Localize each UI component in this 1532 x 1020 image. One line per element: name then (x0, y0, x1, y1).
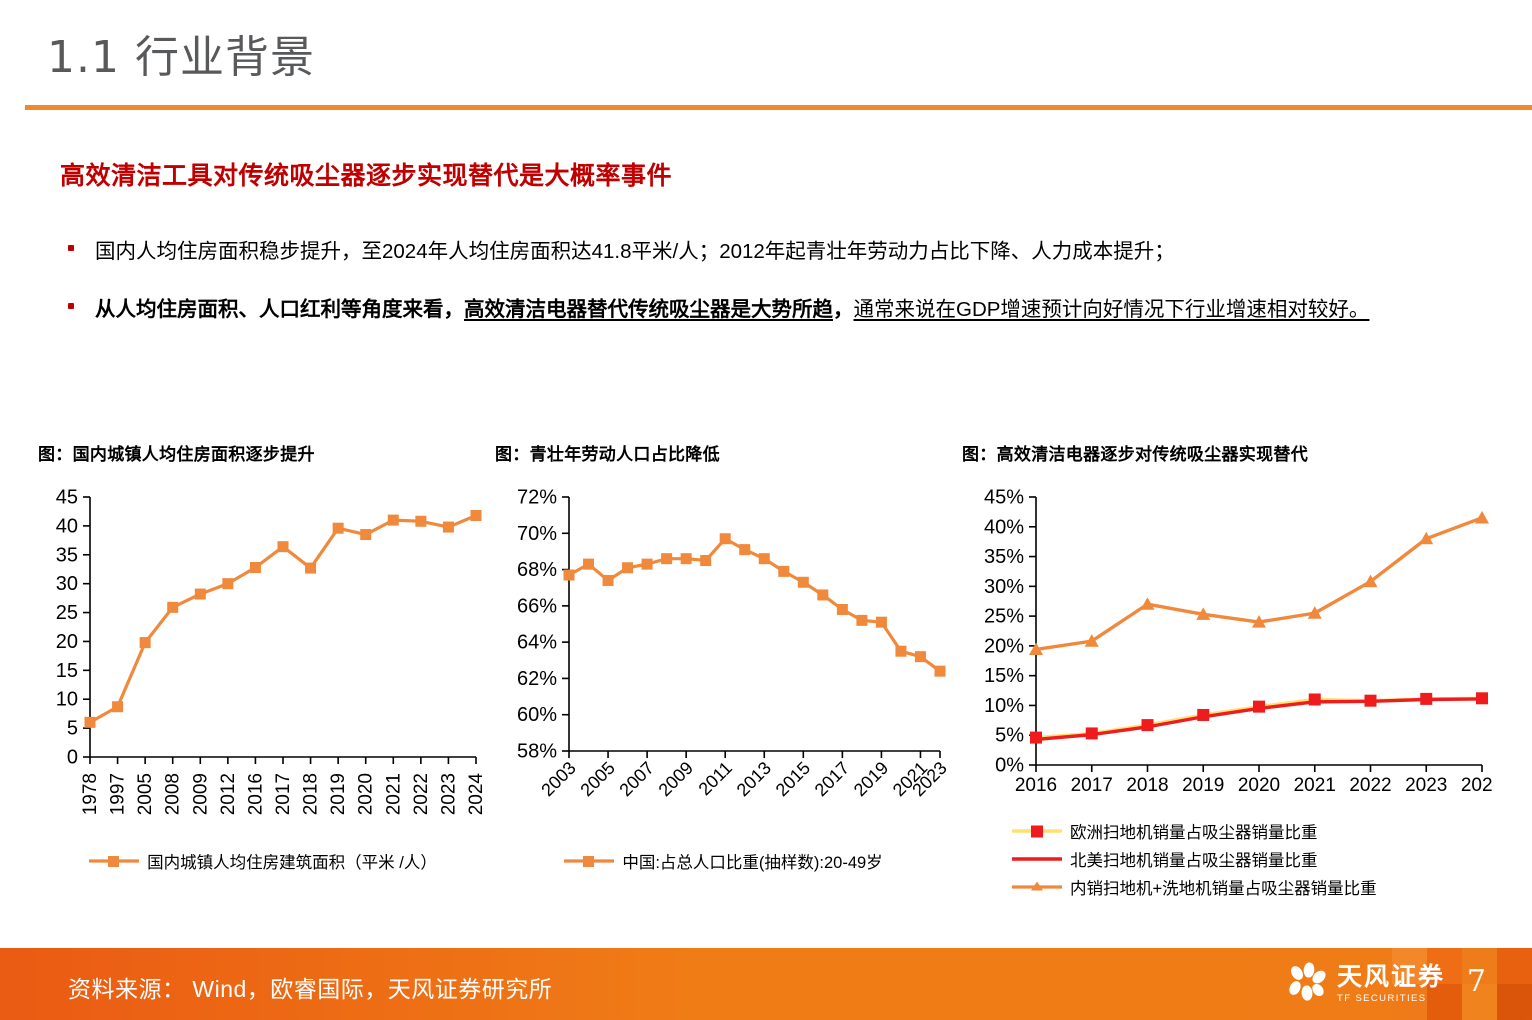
legend-swatch-square-icon (562, 853, 616, 869)
legend-item: 中国:占总人口比重(抽样数):20-49岁 (495, 849, 950, 873)
svg-text:2017: 2017 (1071, 775, 1113, 796)
svg-text:60%: 60% (517, 704, 557, 726)
footer-bar: 资料来源： Wind，欧睿国际，天风证券研究所 天风证券 TF SECURITI… (0, 948, 1532, 1020)
svg-text:2022: 2022 (411, 773, 432, 815)
svg-text:68%: 68% (517, 559, 557, 581)
title-divider (25, 105, 1532, 110)
legend-label: 欧洲扫地机销量占吸尘器销量比重 (1070, 819, 1318, 843)
svg-text:2003: 2003 (537, 758, 579, 800)
legend-label: 国内城镇人均住房建筑面积（平米 /人） (147, 849, 437, 873)
brand-logo: 天风证券 TF SECURITIES (1285, 962, 1445, 1006)
svg-text:35: 35 (56, 544, 78, 566)
bullet-item-1: 国内人均住房面积稳步提升，至2024年人均住房面积达41.8平米/人；2012年… (60, 236, 1490, 268)
bullet-dot-icon (68, 245, 74, 251)
legend-swatch-line-icon (1010, 851, 1064, 867)
svg-text:2005: 2005 (135, 773, 156, 815)
chart-panel-labor-share: 图：青壮年劳动人口占比降低 58%60%62%64%66%68%70%72%20… (495, 440, 950, 873)
svg-text:72%: 72% (517, 487, 557, 509)
svg-text:2024: 2024 (466, 773, 486, 816)
svg-text:30: 30 (56, 573, 78, 595)
bullet2-part2: 高效清洁电器替代传统吸尘器是大势所趋 (464, 298, 833, 321)
svg-text:2007: 2007 (615, 758, 657, 800)
bullet-text-1: 国内人均住房面积稳步提升，至2024年人均住房面积达41.8平米/人；2012年… (95, 240, 1175, 263)
svg-text:2018: 2018 (1126, 775, 1168, 796)
legend-swatch-triangle-icon (1010, 879, 1064, 895)
svg-text:40: 40 (56, 515, 78, 537)
svg-text:10%: 10% (984, 695, 1024, 717)
chart-panel-housing-area: 图：国内城镇人均住房面积逐步提升 05101520253035404519781… (38, 440, 486, 873)
svg-text:1978: 1978 (80, 773, 101, 815)
legend-swatch-square-icon (1010, 823, 1064, 839)
legend-swatch-square-icon (87, 853, 141, 869)
svg-text:25: 25 (56, 602, 78, 624)
svg-text:0: 0 (67, 747, 78, 769)
chart3-plot: 0%5%10%15%20%25%30%35%40%45%201620172018… (962, 483, 1492, 813)
svg-text:2013: 2013 (733, 758, 775, 800)
chart1-plot: 0510152025303540451978199720052008200920… (38, 483, 486, 843)
source-note: 资料来源： Wind，欧睿国际，天风证券研究所 (68, 970, 552, 1004)
svg-text:20: 20 (56, 631, 78, 653)
svg-text:15%: 15% (984, 665, 1024, 687)
chart3-legend: 欧洲扫地机销量占吸尘器销量比重 北美扫地机销量占吸尘器销量比重 内销扫地机+洗地… (1010, 819, 1492, 899)
svg-text:10: 10 (56, 689, 78, 711)
bullet-list: 国内人均住房面积稳步提升，至2024年人均住房面积达41.8平米/人；2012年… (60, 236, 1490, 352)
legend-label: 北美扫地机销量占吸尘器销量比重 (1070, 847, 1318, 871)
svg-text:2023: 2023 (1405, 775, 1447, 796)
svg-text:2009: 2009 (655, 758, 697, 800)
chart2-plot: 58%60%62%64%66%68%70%72%2003200520072009… (495, 483, 950, 843)
brand-name-cn: 天风证券 (1337, 965, 1445, 990)
svg-text:2005: 2005 (576, 758, 618, 800)
chart1-svg: 0510152025303540451978199720052008200920… (38, 483, 486, 843)
svg-text:1997: 1997 (108, 773, 129, 815)
svg-text:0%: 0% (995, 755, 1024, 777)
svg-text:2019: 2019 (328, 773, 349, 815)
legend-item: 国内城镇人均住房建筑面积（平米 /人） (38, 849, 486, 873)
svg-text:45: 45 (56, 487, 78, 509)
svg-text:64%: 64% (517, 632, 557, 654)
svg-text:2016: 2016 (245, 773, 266, 815)
svg-text:66%: 66% (517, 595, 557, 617)
svg-text:2018: 2018 (301, 773, 322, 815)
svg-text:2020: 2020 (1238, 775, 1280, 796)
chart2-svg: 58%60%62%64%66%68%70%72%2003200520072009… (495, 483, 950, 843)
bullet-item-2: 从人均住房面积、人口红利等角度来看，高效清洁电器替代传统吸尘器是大势所趋，通常来… (60, 294, 1490, 326)
svg-text:20%: 20% (984, 635, 1024, 657)
page-title: 1.1 行业背景 (47, 36, 315, 80)
bullet2-part3: ， (833, 298, 854, 321)
svg-text:2021: 2021 (1294, 775, 1336, 796)
svg-text:30%: 30% (984, 576, 1024, 598)
svg-text:40%: 40% (984, 516, 1024, 538)
svg-text:2008: 2008 (163, 773, 184, 815)
svg-text:25%: 25% (984, 606, 1024, 628)
svg-text:5%: 5% (995, 725, 1024, 747)
legend-item: 内销扫地机+洗地机销量占吸尘器销量比重 (1010, 875, 1492, 899)
svg-text:2017: 2017 (811, 758, 853, 800)
brand-name-en: TF SECURITIES (1337, 993, 1445, 1004)
svg-text:2015: 2015 (772, 758, 814, 800)
legend-label: 内销扫地机+洗地机销量占吸尘器销量比重 (1070, 875, 1377, 899)
section-heading: 高效清洁工具对传统吸尘器逐步实现替代是大概率事件 (60, 156, 672, 192)
svg-text:2012: 2012 (218, 773, 239, 815)
svg-text:35%: 35% (984, 546, 1024, 568)
bullet-text-2: 从人均住房面积、人口红利等角度来看，高效清洁电器替代传统吸尘器是大势所趋，通常来… (95, 298, 1369, 321)
svg-text:2022: 2022 (1349, 775, 1391, 796)
bullet2-part1: 从人均住房面积、人口红利等角度来看， (95, 298, 464, 321)
svg-text:2009: 2009 (190, 773, 211, 815)
svg-text:2023: 2023 (438, 773, 459, 815)
chart1-title: 图：国内城镇人均住房面积逐步提升 (38, 440, 486, 465)
svg-text:2016: 2016 (1015, 775, 1057, 796)
chart2-legend: 中国:占总人口比重(抽样数):20-49岁 (495, 849, 950, 873)
svg-text:2019: 2019 (1182, 775, 1224, 796)
legend-item: 欧洲扫地机销量占吸尘器销量比重 (1010, 819, 1492, 843)
bullet-dot-icon (68, 303, 74, 309)
svg-text:15: 15 (56, 660, 78, 682)
chart1-legend: 国内城镇人均住房建筑面积（平米 /人） (38, 849, 486, 873)
tf-leaf-logo-icon (1285, 962, 1331, 1006)
svg-text:2019: 2019 (850, 758, 892, 800)
svg-text:45%: 45% (984, 487, 1024, 509)
svg-text:2017: 2017 (273, 773, 294, 815)
chart-panel-robot-vacuum-share: 图：高效清洁电器逐步对传统吸尘器实现替代 0%5%10%15%20%25%30%… (962, 440, 1492, 899)
chart3-svg: 0%5%10%15%20%25%30%35%40%45%201620172018… (962, 483, 1492, 813)
svg-text:2021: 2021 (383, 773, 404, 815)
bullet2-part4: 通常来说在GDP增速预计向好情况下行业增速相对较好。 (854, 298, 1370, 321)
svg-text:5: 5 (67, 718, 78, 740)
svg-text:58%: 58% (517, 741, 557, 763)
svg-text:62%: 62% (517, 668, 557, 690)
svg-text:2011: 2011 (695, 758, 737, 800)
svg-text:2020: 2020 (356, 773, 377, 815)
legend-label: 中国:占总人口比重(抽样数):20-49岁 (622, 849, 882, 873)
chart2-title: 图：青壮年劳动人口占比降低 (495, 440, 950, 465)
page-number: 7 (1467, 964, 1486, 999)
legend-item: 北美扫地机销量占吸尘器销量比重 (1010, 847, 1492, 871)
svg-text:70%: 70% (517, 523, 557, 545)
svg-text:2024: 2024 (1461, 775, 1492, 796)
chart3-title: 图：高效清洁电器逐步对传统吸尘器实现替代 (962, 440, 1492, 465)
